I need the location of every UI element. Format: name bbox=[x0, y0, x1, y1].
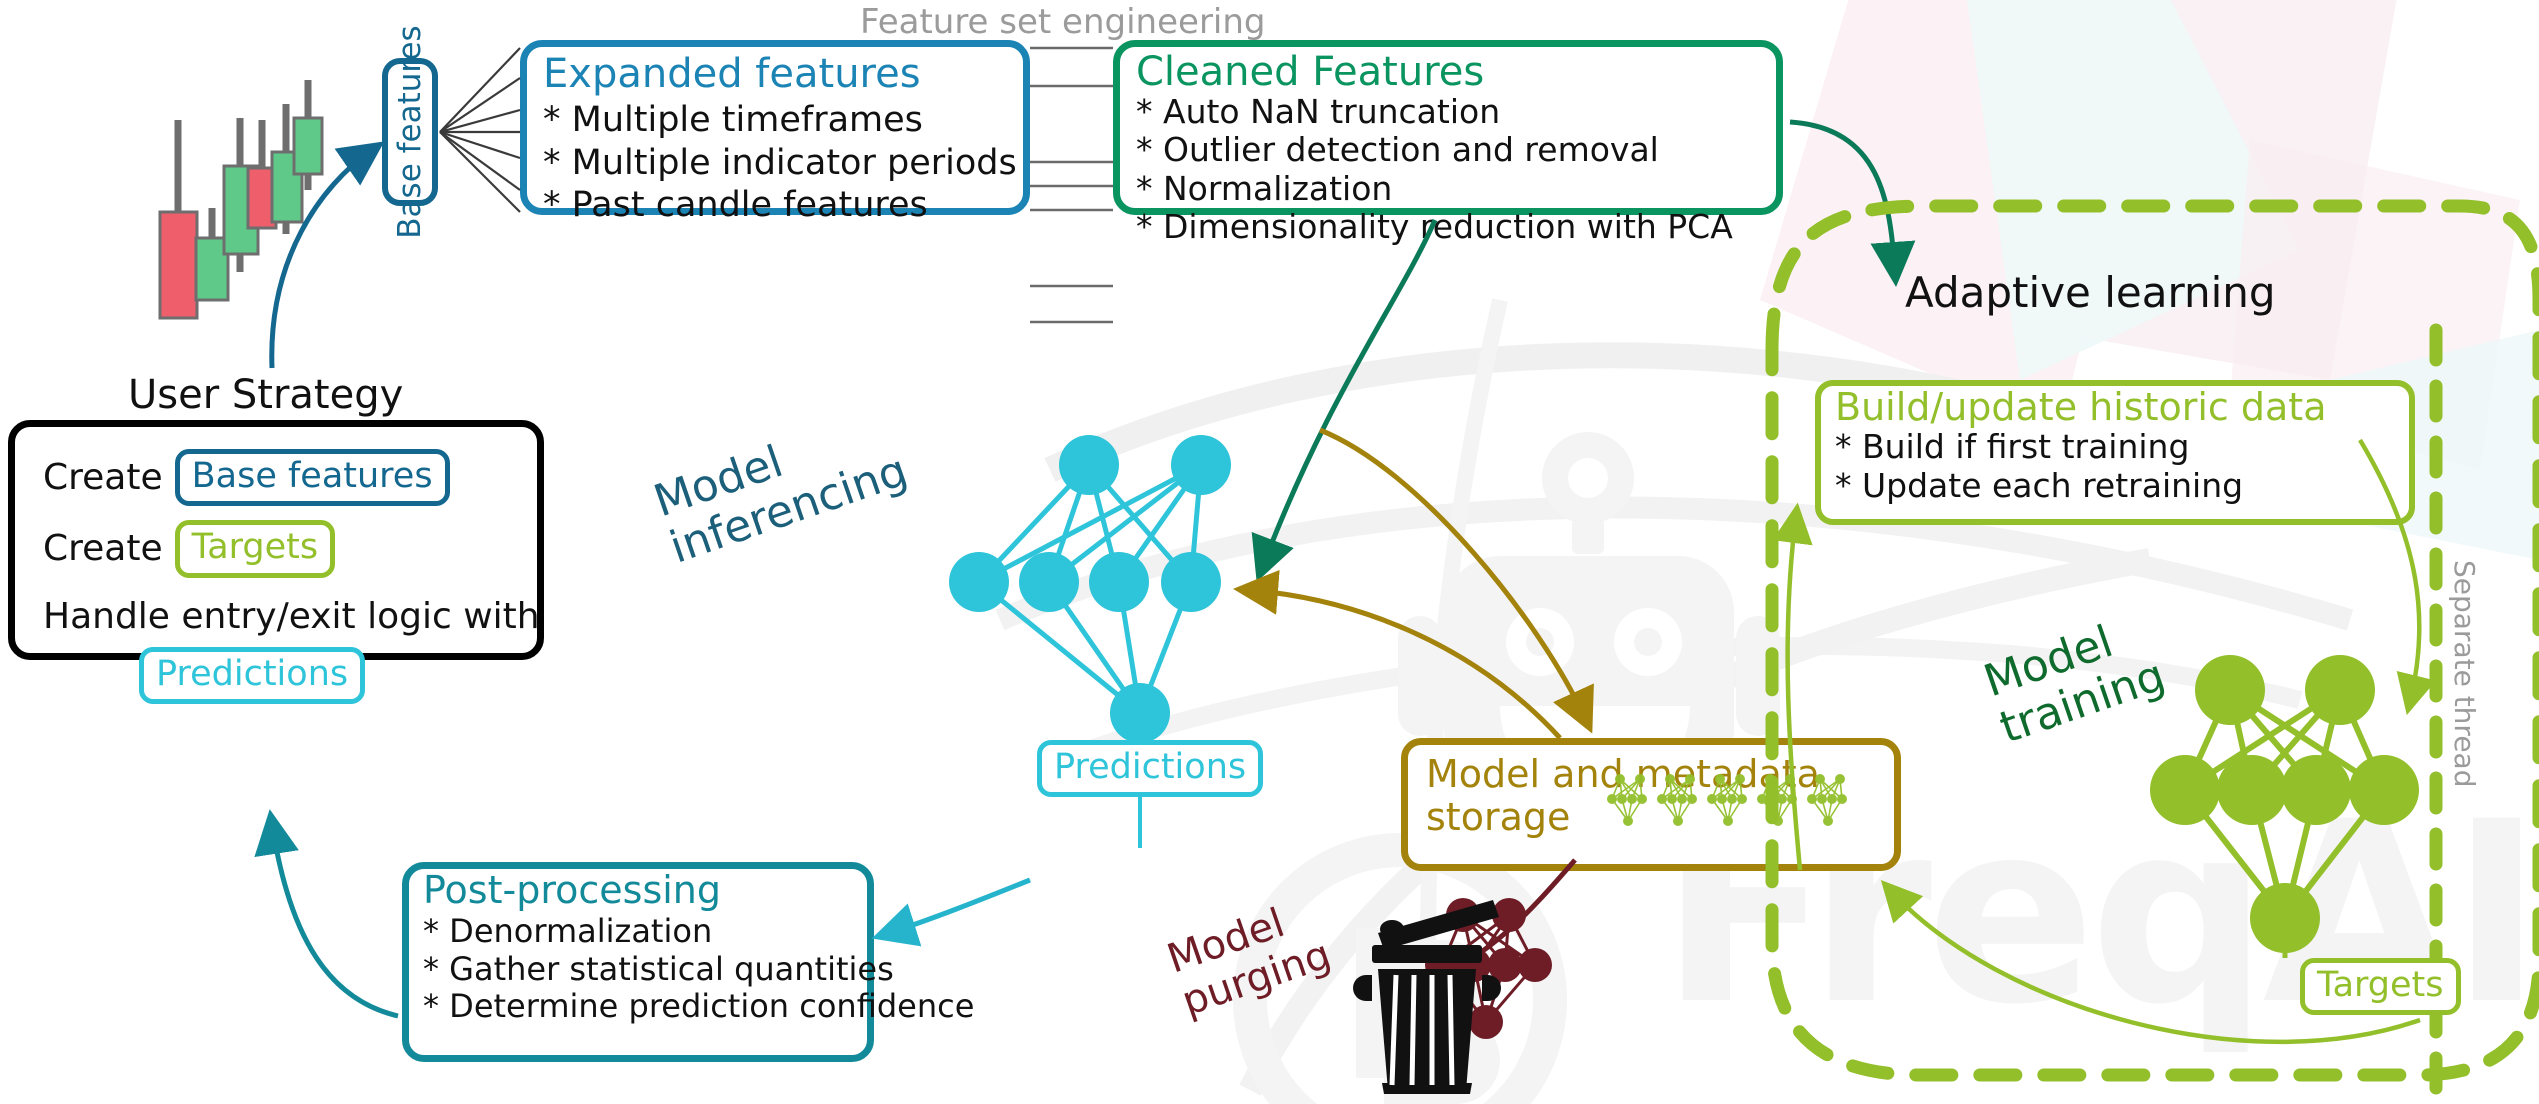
build-update-historic-data-box[interactable]: Build/update historic data Build if firs… bbox=[1815, 380, 2415, 525]
cleaned-features-title: Cleaned Features bbox=[1136, 51, 1776, 93]
post-processing-title: Post-processing bbox=[423, 871, 867, 911]
list-item: Build if first training bbox=[1835, 428, 2409, 467]
expanded-features-title: Expanded features bbox=[543, 53, 1023, 95]
strategy-row-targets: Create Targets bbox=[43, 520, 537, 577]
targets-chip[interactable]: Targets bbox=[2300, 958, 2461, 1015]
feature-set-engineering-label: Feature set engineering bbox=[860, 2, 1266, 42]
strategy-row-prefix: Create bbox=[43, 528, 163, 569]
list-item: Outlier detection and removal bbox=[1136, 131, 1776, 169]
expanded-features-bullets: Multiple timeframes Multiple indicator p… bbox=[543, 99, 1023, 227]
list-item: Multiple timeframes bbox=[543, 99, 1023, 142]
build-update-bullets: Build if first training Update each retr… bbox=[1835, 428, 2409, 506]
list-item: Update each retraining bbox=[1835, 467, 2409, 506]
base-features-label: Base features bbox=[392, 25, 428, 238]
storage-line2: storage bbox=[1426, 796, 1894, 839]
list-item: Normalization bbox=[1136, 170, 1776, 208]
cleaned-features-box[interactable]: Cleaned Features Auto NaN truncation Out… bbox=[1113, 40, 1783, 215]
storage-line1: Model and metadata bbox=[1426, 753, 1894, 796]
cleaned-features-bullets: Auto NaN truncation Outlier detection an… bbox=[1136, 93, 1776, 246]
diagram-canvas: FreqAI bbox=[0, 0, 2539, 1104]
post-processing-bullets: Denormalization Gather statistical quant… bbox=[423, 913, 867, 1026]
strategy-row-predictions: Handle entry/exit logic with Predictions bbox=[43, 596, 537, 704]
targets-chip-inline[interactable]: Targets bbox=[175, 520, 336, 577]
strategy-row-prefix-wrap: Handle entry/exit logic with bbox=[43, 596, 537, 637]
separate-thread-label: Separate thread bbox=[2448, 560, 2481, 788]
list-item: Past candle features bbox=[543, 184, 1023, 227]
base-features-chip[interactable]: Base features bbox=[382, 58, 438, 206]
user-strategy-title: User Strategy bbox=[128, 372, 403, 418]
base-features-chip-inline[interactable]: Base features bbox=[175, 449, 450, 506]
user-strategy-box[interactable]: Create Base features Create Targets Hand… bbox=[8, 420, 544, 660]
list-item: Dimensionality reduction with PCA bbox=[1136, 208, 1776, 246]
adaptive-learning-title: Adaptive learning bbox=[1905, 268, 2276, 317]
list-item: Multiple indicator periods bbox=[543, 142, 1023, 185]
list-item: Auto NaN truncation bbox=[1136, 93, 1776, 131]
predictions-chip[interactable]: Predictions bbox=[1037, 740, 1263, 797]
strategy-row-prefix: Create bbox=[43, 457, 163, 498]
strategy-row-prefix: Handle entry/exit logic with bbox=[43, 596, 540, 637]
strategy-row-base-features: Create Base features bbox=[43, 449, 537, 506]
list-item: Gather statistical quantities bbox=[423, 951, 867, 989]
list-item: Denormalization bbox=[423, 913, 867, 951]
build-update-title: Build/update historic data bbox=[1835, 388, 2409, 428]
model-metadata-storage-box[interactable]: Model and metadata storage bbox=[1401, 738, 1901, 871]
storage-text: Model and metadata storage bbox=[1426, 753, 1894, 838]
post-processing-box[interactable]: Post-processing Denormalization Gather s… bbox=[402, 862, 874, 1062]
expanded-features-box[interactable]: Expanded features Multiple timeframes Mu… bbox=[520, 40, 1030, 215]
predictions-chip-inline[interactable]: Predictions bbox=[139, 647, 365, 704]
list-item: Determine prediction confidence bbox=[423, 988, 867, 1026]
